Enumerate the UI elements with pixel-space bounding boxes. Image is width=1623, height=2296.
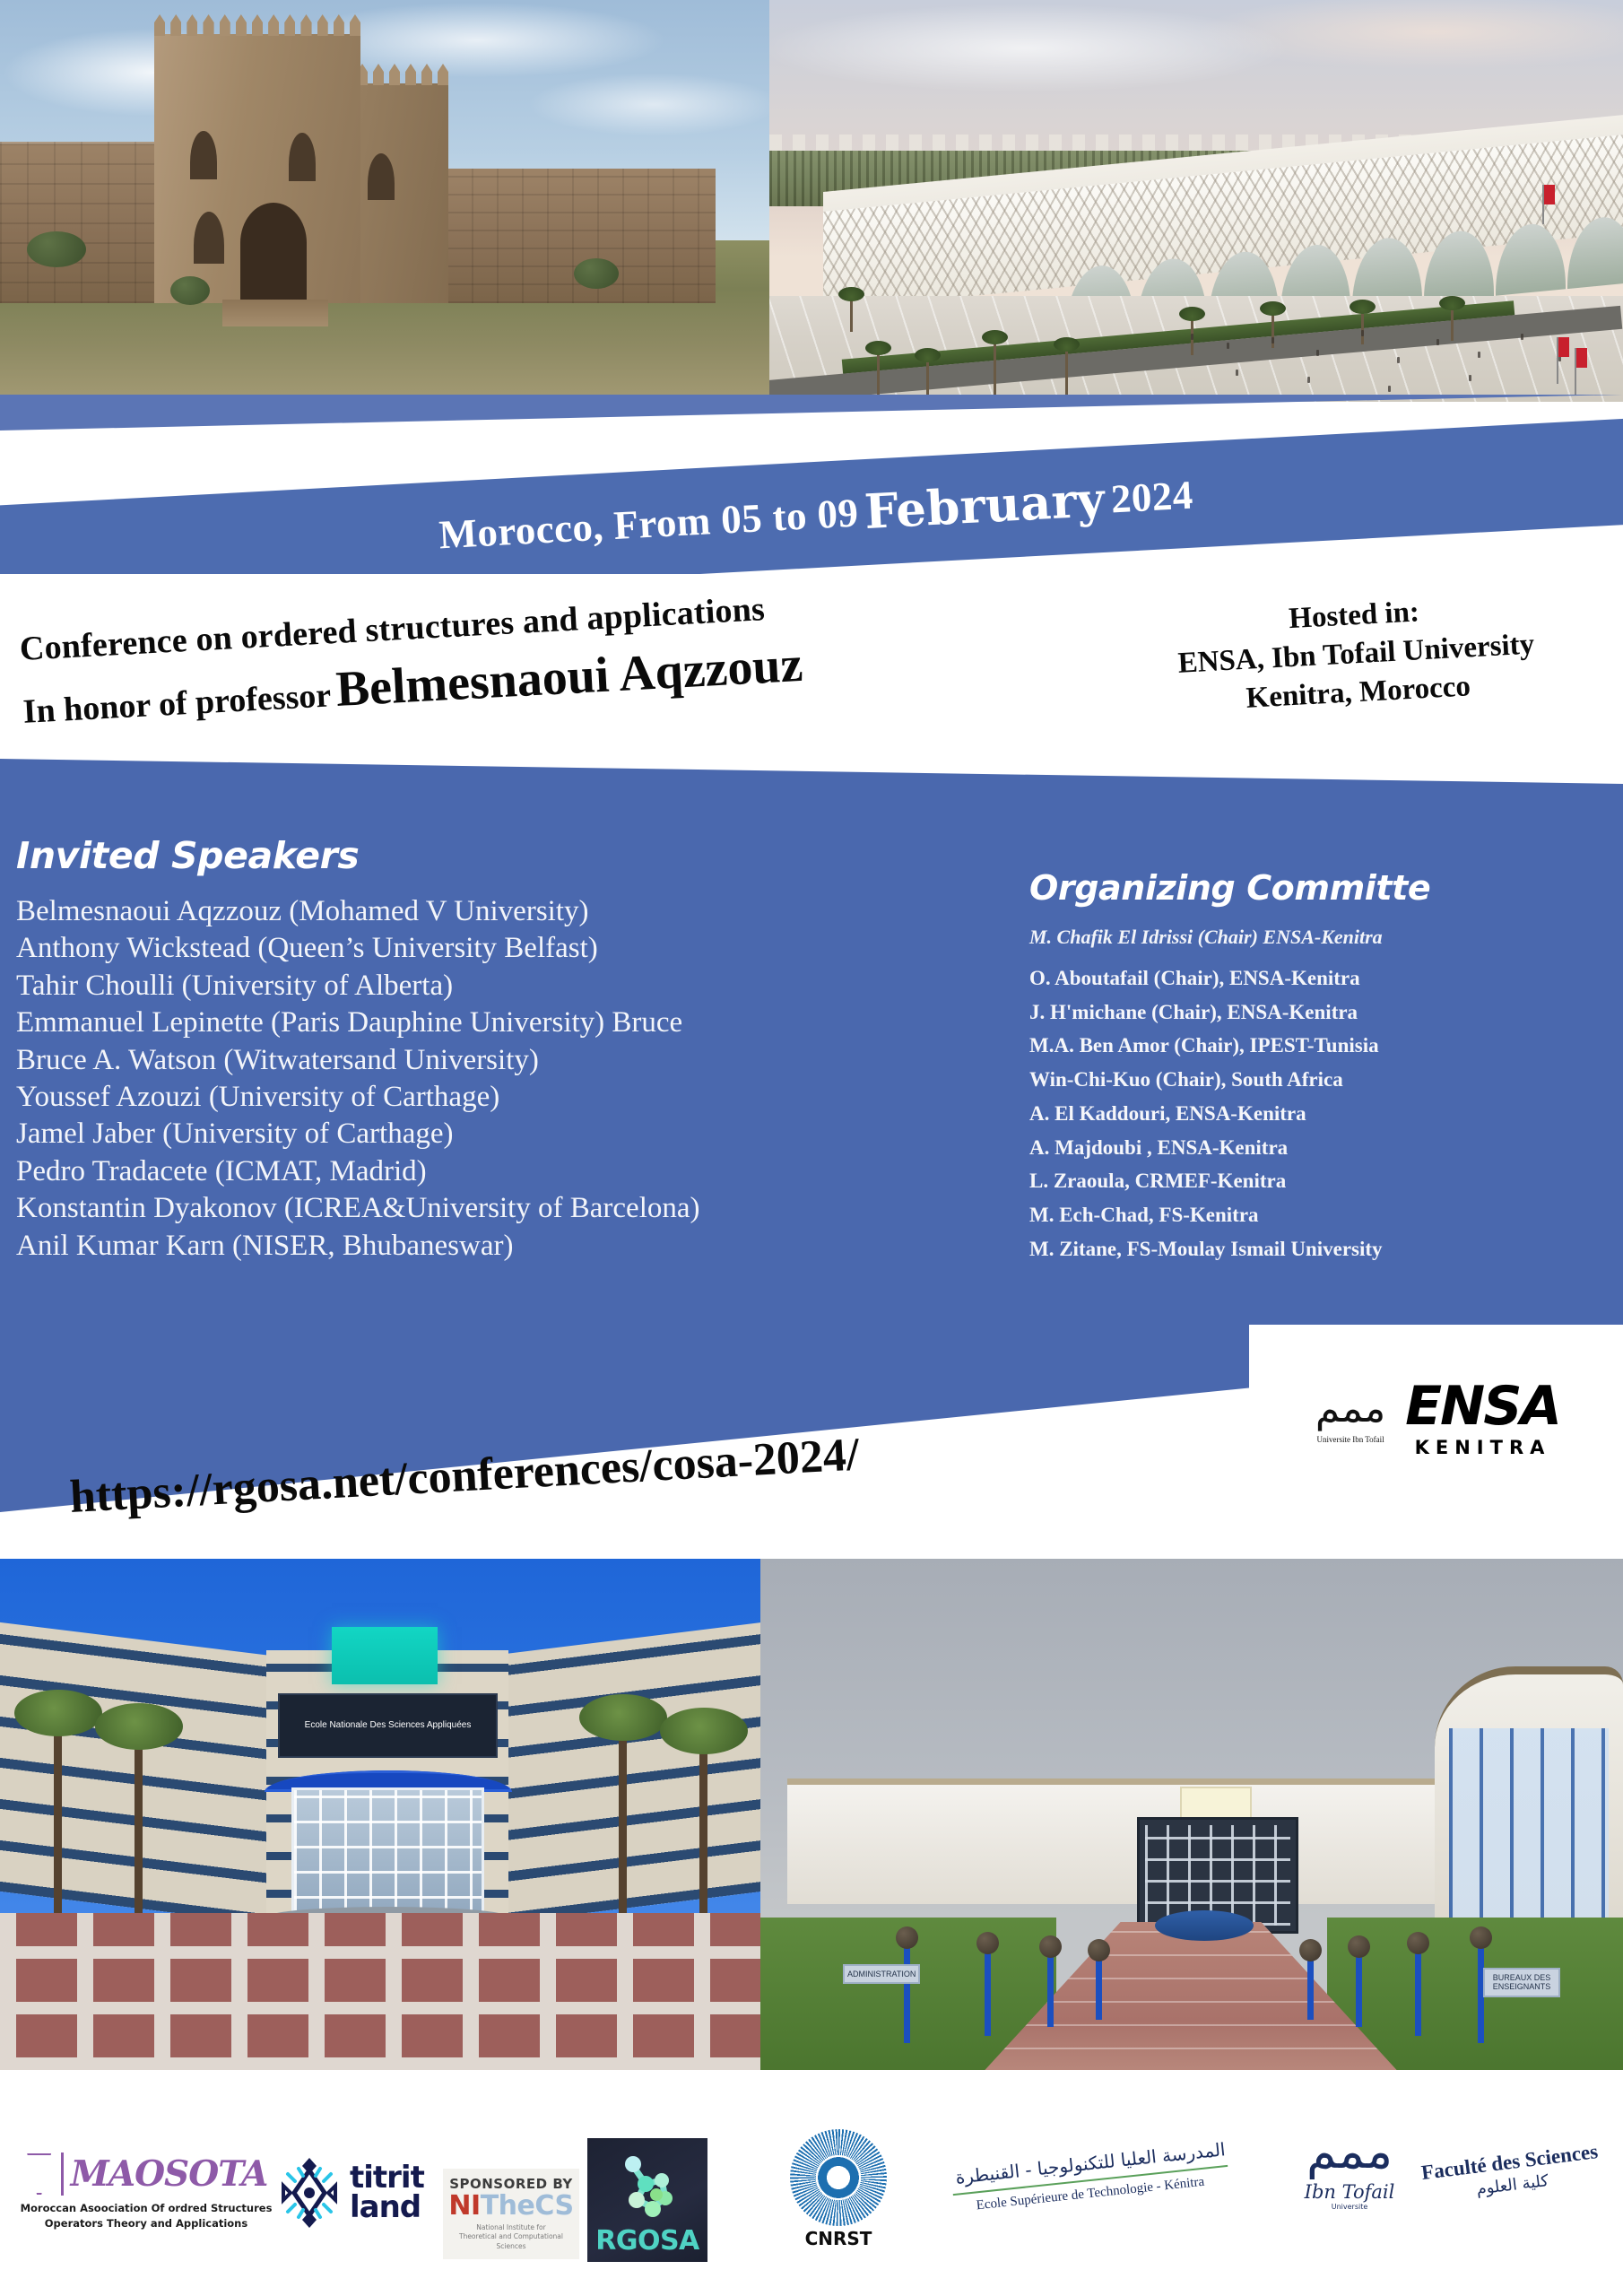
speaker-item: Konstantin Dyakonov (ICREA&University of…: [16, 1190, 949, 1227]
sponsor-cnrst[interactable]: CNRST: [753, 2129, 924, 2249]
bush: [170, 276, 210, 305]
nithecs-tagline: National Institute for Theoretical and C…: [448, 2223, 574, 2253]
speaker-item: Anil Kumar Karn (NISER, Bhubaneswar): [16, 1228, 949, 1265]
pedestrian: [1227, 343, 1229, 349]
ibn-tofail-mark: ممم Universite Ibn Tofail: [1312, 1393, 1389, 1444]
sponsor-rgosa[interactable]: RGOSA: [587, 2138, 707, 2262]
committee-chair-item: M. Chafik El Idrissi (Chair) ENSA-Kenitr…: [1029, 926, 1603, 949]
speaker-item: Youssef Azouzi (University of Carthage): [16, 1079, 949, 1116]
palm-tree: [619, 1725, 627, 1913]
bottom-photo-strip: Ecole Nationale Des Sciences Appliquées …: [0, 1559, 1623, 2070]
ensa-entrance-photo: Ecole Nationale Des Sciences Appliquées: [0, 1559, 762, 2070]
pedestrian: [1436, 339, 1439, 345]
bush: [574, 258, 619, 289]
in-honor-prefix: In honor of professor: [22, 676, 333, 731]
lamp-post: [1096, 1957, 1102, 2020]
speaker-item: Belmesnaoui Aqzzouz (Mohamed V Universit…: [16, 893, 949, 930]
honoree-name: Belmesnaoui Aqzzouz: [334, 637, 804, 717]
pedestrian: [1388, 386, 1391, 392]
maosota-wordmark: MAOSOTA: [71, 2153, 268, 2195]
committee-item: O. Aboutafail (Chair), ENSA-Kenitra: [1029, 961, 1603, 996]
arch-window: [368, 153, 395, 200]
pedestrian: [1478, 352, 1480, 358]
speaker-item: Pedro Tradacete (ICMAT, Madrid): [16, 1153, 949, 1190]
administration-sign: ADMINISTRATION: [843, 1964, 920, 1984]
rounded-building: [1435, 1666, 1623, 1935]
top-blue-accent-band: [0, 395, 1623, 430]
lamp-post: [1047, 1953, 1054, 2027]
divider-bar-icon: [61, 2152, 64, 2196]
pedestrian: [1307, 377, 1310, 383]
cone-icon: [25, 2153, 54, 2195]
date-prefix: Morocco, From 05 to 09: [438, 490, 859, 559]
fountain: [1155, 1910, 1254, 1941]
invited-speakers-section: Invited Speakers Belmesnaoui Aqzzouz (Mo…: [16, 834, 949, 1265]
conference-title: Conference on ordered structures and app…: [19, 577, 1010, 735]
nithecs-tagline-line1: National Institute for: [448, 2223, 574, 2233]
merlons: [154, 14, 360, 36]
kasbah-gate-photo: [0, 0, 769, 402]
moroccan-flag: [1575, 348, 1576, 395]
ibn-tofail-universite-label: Universite: [1273, 2203, 1426, 2211]
tiled-courtyard: [0, 1913, 762, 2070]
berber-diamond-icon: [280, 2158, 339, 2228]
ensa-kenitra-logo: ممم Universite Ibn Tofail ENSA KENITRA: [1254, 1328, 1618, 1509]
titrit-word-line2: land: [350, 2193, 424, 2222]
committee-item: J. H'michane (Chair), ENSA-Kenitra: [1029, 996, 1603, 1030]
pedestrian: [1469, 375, 1471, 381]
pedestrian: [1191, 334, 1193, 340]
pedestrian: [1316, 350, 1319, 356]
palm-tree: [699, 1738, 707, 1913]
main-gate-arch: [240, 203, 307, 303]
committee-item: M. Ech-Chad, FS-Kenitra: [1029, 1198, 1603, 1232]
palm-tree: [994, 339, 996, 398]
palm-tree: [54, 1720, 62, 1913]
nithecs-word-thecs: TheCS: [481, 2190, 574, 2222]
led-display-sign: [332, 1627, 438, 1684]
ensa-subtitle: KENITRA: [1405, 1437, 1560, 1458]
committee-item: M.A. Ben Amor (Chair), IPEST-Tunisia: [1029, 1029, 1603, 1063]
pedestrian: [1521, 334, 1523, 340]
plaza-aerial-photo: [769, 0, 1623, 402]
palm-tree: [1361, 309, 1364, 344]
arch-window: [194, 212, 224, 264]
nithecs-word-ni: NI: [448, 2190, 480, 2222]
committee-item: A. Majdoubi , ENSA-Kenitra: [1029, 1131, 1603, 1165]
pedestrian: [1361, 330, 1364, 336]
arabic-calligraphy-icon: ممم: [1273, 2135, 1426, 2169]
committee-item: M. Zitane, FS-Moulay Ismail University: [1029, 1232, 1603, 1266]
ensa-word: ENSA: [1405, 1379, 1560, 1433]
lamp-post: [1307, 1957, 1314, 2020]
palm-tree: [850, 296, 853, 332]
committee-item: A. El Kaddouri, ENSA-Kenitra: [1029, 1097, 1603, 1131]
pedestrian: [1397, 357, 1400, 363]
lamp-post: [1415, 1950, 1421, 2036]
nithecs-wordmark: NITheCS: [448, 2192, 574, 2221]
arch-window: [190, 131, 217, 179]
maosota-tagline: Moroccan Asoociation Of ordred Structure…: [16, 2201, 276, 2232]
lamp-post: [904, 1944, 910, 2043]
school-name-sign: Ecole Nationale Des Sciences Appliquées: [278, 1693, 498, 1758]
administration-sign-label: ADMINISTRATION: [847, 1970, 916, 1979]
hosted-in-block: Hosted in: ENSA, Ibn Tofail University K…: [1102, 583, 1610, 726]
teachers-offices-sign: BUREAUX DES ENSEIGNANTS: [1483, 1968, 1560, 1997]
cnrst-wordmark: CNRST: [753, 2228, 924, 2249]
speaker-item: Emmanuel Lepinette (Paris Dauphine Unive…: [16, 1004, 949, 1041]
ibn-tofail-label: Universite Ibn Tofail: [1312, 1435, 1389, 1444]
palm-tree: [877, 350, 880, 402]
arabic-calligraphy-icon: ممم: [1312, 1393, 1389, 1424]
palm-tree: [135, 1734, 143, 1913]
date-year: 2024: [1110, 472, 1194, 523]
speaker-item: Jamel Jaber (University of Carthage): [16, 1116, 949, 1152]
molecule-icon: [606, 2153, 689, 2225]
radiating-sun-icon: [790, 2129, 887, 2226]
sponsor-ibn-tofail-university[interactable]: ممم Ibn Tofail Universite: [1273, 2135, 1426, 2211]
campus-walkway-photo: ADMINISTRATION BUREAUX DES ENSEIGNANTS: [760, 1559, 1623, 2070]
organizing-committee-heading: Organizing Committe: [1029, 868, 1603, 908]
moroccan-flag: [1557, 337, 1558, 384]
glass-entrance-doors: [291, 1787, 484, 1926]
ibn-tofail-name: Ibn Tofail: [1273, 2181, 1426, 2203]
palm-tree: [1065, 346, 1068, 398]
committee-item: Win-Chi-Kuo (Chair), South Africa: [1029, 1063, 1603, 1097]
gate-steps: [222, 300, 328, 326]
teachers-offices-sign-label: BUREAUX DES ENSEIGNANTS: [1493, 1973, 1551, 1991]
arch-window: [289, 133, 316, 181]
lamp-post: [985, 1950, 991, 2036]
header-photo-strip: [0, 0, 1623, 402]
sponsor-nithecs[interactable]: SPONSORED BY NITheCS National Institute …: [443, 2169, 579, 2259]
school-name-fr: Ecole Nationale Des Sciences Appliquées: [305, 1719, 472, 1732]
nithecs-tagline-line2: Theoretical and Computational Sciences: [448, 2232, 574, 2252]
rgosa-wordmark: RGOSA: [595, 2225, 699, 2257]
organizing-committee-section: Organizing Committe M. Chafik El Idrissi…: [1029, 868, 1603, 1265]
speaker-item: Anthony Wickstead (Queen’s University Be…: [16, 930, 949, 967]
pedestrian: [1236, 370, 1238, 376]
sponsor-titrit-land[interactable]: titrit land: [280, 2158, 424, 2228]
sponsor-est-kenitra[interactable]: المدرسة العليا للتكنولوجيا - القنيطرة Ec…: [929, 2152, 1252, 2202]
maosota-lockup: MAOSOTA: [16, 2152, 276, 2196]
date-month: February: [863, 472, 1106, 540]
lamp-post: [1356, 1953, 1362, 2027]
palm-tree: [1451, 305, 1454, 341]
pedestrian: [1271, 337, 1274, 344]
titrit-wordmark: titrit land: [350, 2163, 424, 2222]
speaker-item: Bruce A. Watson (Witwatersand University…: [16, 1042, 949, 1079]
invited-speakers-heading: Invited Speakers: [16, 834, 949, 877]
speaker-item: Tahir Choulli (University of Alberta): [16, 968, 949, 1004]
maosota-tagline-line1: Moroccan Asoociation Of ordred Structure…: [16, 2201, 276, 2216]
sponsor-maosota[interactable]: MAOSOTA Moroccan Asoociation Of ordred S…: [16, 2152, 276, 2232]
title-block: Conference on ordered structures and app…: [0, 574, 1623, 776]
moroccan-flag: [1542, 185, 1544, 224]
campus-led-sign: [1180, 1787, 1252, 1819]
bush: [27, 231, 86, 267]
ensa-wordmark: ENSA KENITRA: [1405, 1379, 1560, 1458]
committee-item: L. Zraoula, CRMEF-Kenitra: [1029, 1164, 1603, 1198]
maosota-tagline-line2: Operators Theory and Applications: [16, 2216, 276, 2231]
